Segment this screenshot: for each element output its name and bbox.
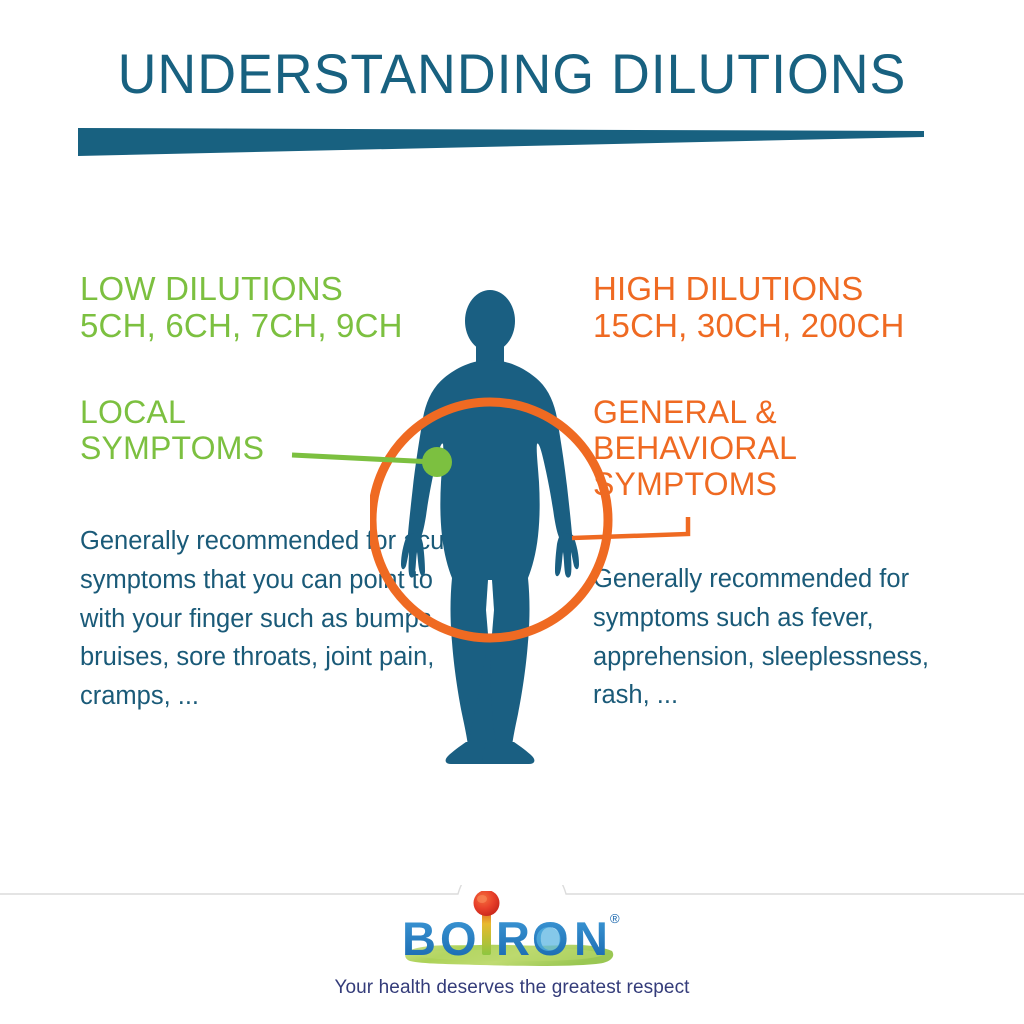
logo-wordmark: B O R O N [402,912,608,965]
high-dilutions-heading: HIGH DILUTIONS 15CH, 30CH, 200CH [593,272,905,342]
human-body-silhouette [401,290,579,764]
general-symptoms-description: Generally recommended for symptoms such … [593,560,965,715]
logo-watercolor-dot [537,927,561,951]
footer: B O R O N ® Your health deserves the gre… [0,885,1024,1024]
low-dilutions-heading: LOW DILUTIONS 5CH, 6CH, 7CH, 9CH [80,272,403,342]
footer-tagline: Your health deserves the greatest respec… [0,977,1024,999]
low-dilutions-title: LOW DILUTIONS [80,272,403,306]
high-dilutions-title: HIGH DILUTIONS [593,272,905,306]
local-symptoms-line2: SYMPTOMS [80,430,264,466]
low-dilutions-values: 5CH, 6CH, 7CH, 9CH [80,309,403,343]
svg-text:O: O [440,912,477,965]
title-underline-wedge [78,128,924,162]
svg-text:B: B [402,912,436,965]
human-body-figure [370,290,630,770]
high-dilutions-values: 15CH, 30CH, 200CH [593,309,905,343]
svg-text:R: R [496,912,530,965]
boiron-logo[interactable]: B O R O N ® [396,891,628,971]
infographic-page: UNDERSTANDING DILUTIONS LOW DILUTIONS 5C… [0,0,1024,1024]
header-block: UNDERSTANDING DILUTIONS [0,46,1024,102]
local-symptoms-line1: LOCAL [80,394,264,430]
page-title: UNDERSTANDING DILUTIONS [20,46,1003,102]
svg-text:N: N [574,912,608,965]
logo-registered-mark: ® [610,911,620,926]
local-symptoms-heading: LOCAL SYMPTOMS [80,394,264,466]
